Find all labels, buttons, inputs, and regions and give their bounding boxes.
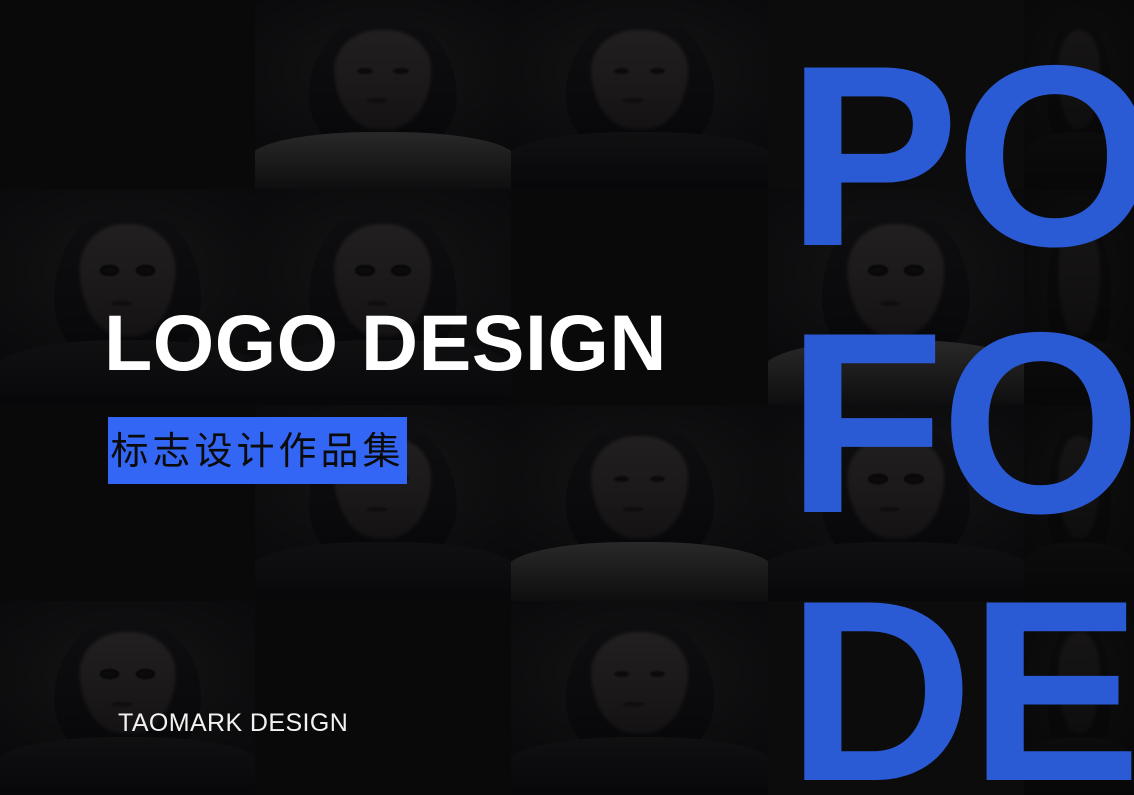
portrait-image (1024, 0, 1134, 189)
photo-tile (768, 189, 1024, 405)
subtitle-badge-label: 标志设计作品集 (110, 432, 404, 470)
photo-tile (768, 601, 1024, 795)
photo-tile (1024, 601, 1134, 795)
poster-canvas: PO FO DE LOGO DESIGN 标志设计作品集 TAOMARK DES… (0, 0, 1134, 795)
photo-tile (768, 405, 1024, 601)
portrait-image (511, 601, 768, 795)
portrait-image (511, 405, 768, 601)
portrait-image (255, 0, 511, 189)
photo-tile (1024, 0, 1134, 189)
photo-tile (255, 601, 511, 795)
photo-tile (768, 0, 1024, 189)
portrait-image (511, 0, 768, 189)
photo-tile (255, 0, 511, 189)
subtitle-badge: 标志设计作品集 (108, 417, 407, 484)
photo-tile (1024, 405, 1134, 601)
portrait-image (1024, 189, 1134, 405)
photo-tile (511, 405, 768, 601)
photo-tile (511, 0, 768, 189)
photo-mosaic (0, 0, 1134, 795)
portrait-image (0, 601, 255, 795)
brand-name: TAOMARK DESIGN (118, 709, 348, 738)
portrait-image (768, 405, 1024, 601)
page-title: LOGO DESIGN (104, 303, 667, 382)
photo-tile (511, 601, 768, 795)
portrait-image (768, 189, 1024, 405)
photo-tile (1024, 189, 1134, 405)
photo-tile (0, 0, 255, 189)
portrait-image (1024, 405, 1134, 601)
photo-tile (0, 601, 255, 795)
portrait-image (1024, 601, 1134, 795)
